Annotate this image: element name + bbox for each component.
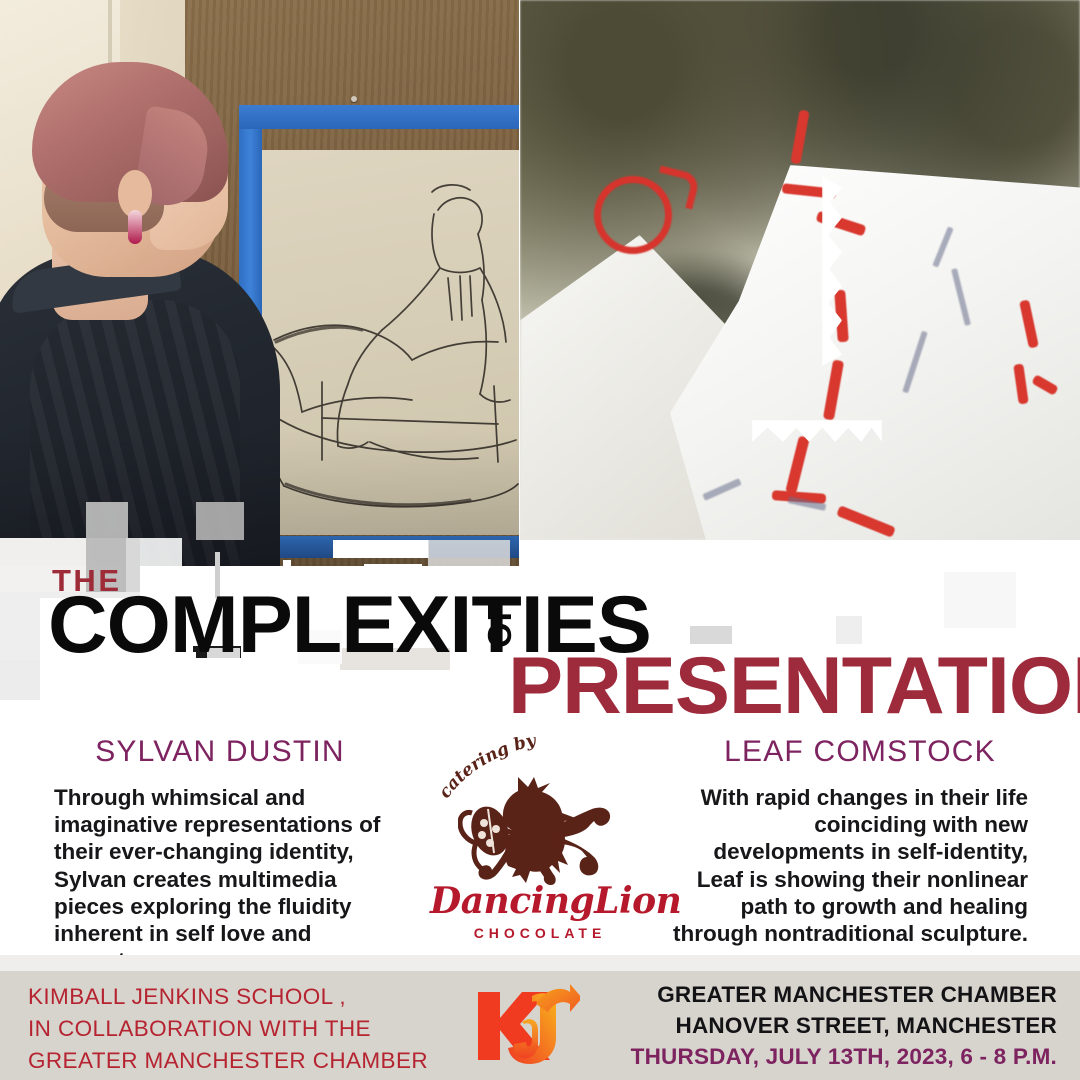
glitch-block: [196, 502, 244, 540]
kj-arrow-icon: [536, 984, 580, 1012]
artist-block-leaf-comstock: LEAF COMSTOCK With rapid changes in thei…: [660, 735, 1060, 947]
kimball-jenkins-logo: [470, 980, 580, 1072]
artist-bio: With rapid changes in their life coincid…: [660, 784, 1060, 947]
footer-divider: [0, 955, 1080, 971]
footer-venue-info: GREATER MANCHESTER CHAMBER HANOVER STREE…: [585, 980, 1057, 1072]
headline-presentation: PRESENTATION: [508, 646, 1080, 727]
footer-datetime: THURSDAY, JULY 13TH, 2023, 6 - 8 P.M.: [585, 1042, 1057, 1073]
lion-icon: [458, 773, 628, 885]
dancing-lion-logo: catering by DancingLion CHOCOLATE: [430, 735, 650, 950]
footer-venue-line: HANOVER STREET, MANCHESTER: [585, 1011, 1057, 1042]
footer-venue-line: GREATER MANCHESTER CHAMBER: [585, 980, 1057, 1011]
footer-host-info: KIMBALL JENKINS SCHOOL , IN COLLABORATIO…: [28, 981, 458, 1077]
artist-name: LEAF COMSTOCK: [660, 735, 1060, 768]
footer-host-line: IN COLLABORATION WITH THE: [28, 1013, 458, 1045]
photo-textile-closeup: [520, 0, 1080, 540]
poster-canvas: THE COMPLEXITIES OF PRESENTATION SYLVAN …: [0, 0, 1080, 1080]
artist-block-sylvan-dustin: SYLVAN DUSTIN Through whimsical and imag…: [20, 735, 420, 975]
footer-host-line: GREATER MANCHESTER CHAMBER: [28, 1045, 458, 1077]
footer-host-line: KIMBALL JENKINS SCHOOL ,: [28, 981, 458, 1013]
photo-artist-at-easel: [0, 0, 519, 566]
dancing-lion-wordmark: DancingLion: [430, 883, 650, 919]
earring-icon: [128, 210, 142, 244]
artist-bio: Through whimsical and imaginative repres…: [20, 784, 420, 975]
blue-tape-horizontal: [239, 105, 519, 129]
artist-name: SYLVAN DUSTIN: [20, 735, 420, 768]
pin-icon: [351, 96, 357, 102]
dancing-lion-subtitle: CHOCOLATE: [430, 925, 650, 941]
